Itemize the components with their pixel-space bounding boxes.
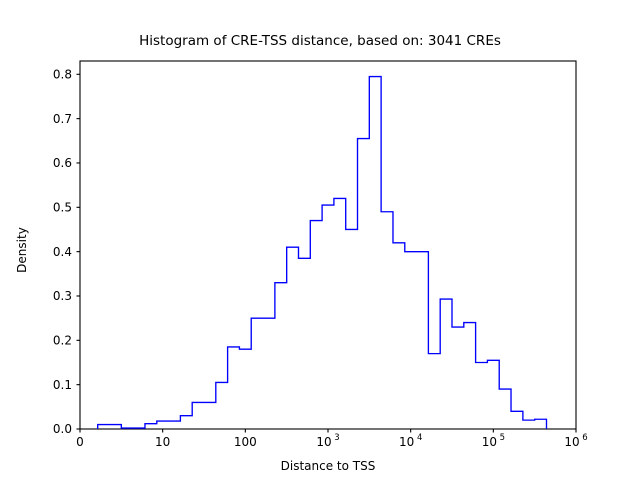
x-tick-label: 10 [155,435,170,449]
y-tick-label: 0.2 [53,334,72,348]
figure-canvas: Histogram of CRE-TSS distance, based on:… [0,0,640,480]
y-tick-label: 0.5 [53,201,72,215]
x-axis-label: Distance to TSS [281,459,376,473]
x-tick-label: 10 [399,435,414,449]
y-tick-label: 0.7 [53,112,72,126]
x-axis-ticks: 010100103104105106 [76,429,588,449]
x-tick-exponent: 3 [334,433,339,443]
y-axis-ticks: 0.00.10.20.30.40.50.60.70.8 [53,68,80,437]
x-tick-label: 10 [564,435,579,449]
axes-frame [80,61,576,429]
y-tick-label: 0.8 [53,68,72,82]
y-tick-label: 0.3 [53,289,72,303]
x-tick-exponent: 4 [417,433,422,443]
x-tick-label: 10 [316,435,331,449]
histogram-chart: Histogram of CRE-TSS distance, based on:… [0,0,640,480]
y-tick-label: 0.4 [53,245,72,259]
x-tick-label: 0 [76,435,84,449]
y-tick-label: 0.0 [53,422,72,436]
histogram-step-line [98,77,547,429]
x-tick-exponent: 5 [500,433,505,443]
x-tick-label: 100 [234,435,257,449]
y-tick-label: 0.1 [53,378,72,392]
chart-title: Histogram of CRE-TSS distance, based on:… [139,33,501,49]
y-axis-label: Density [15,227,29,273]
x-tick-label: 10 [482,435,497,449]
x-tick-exponent: 6 [582,433,587,443]
y-tick-label: 0.6 [53,156,72,170]
